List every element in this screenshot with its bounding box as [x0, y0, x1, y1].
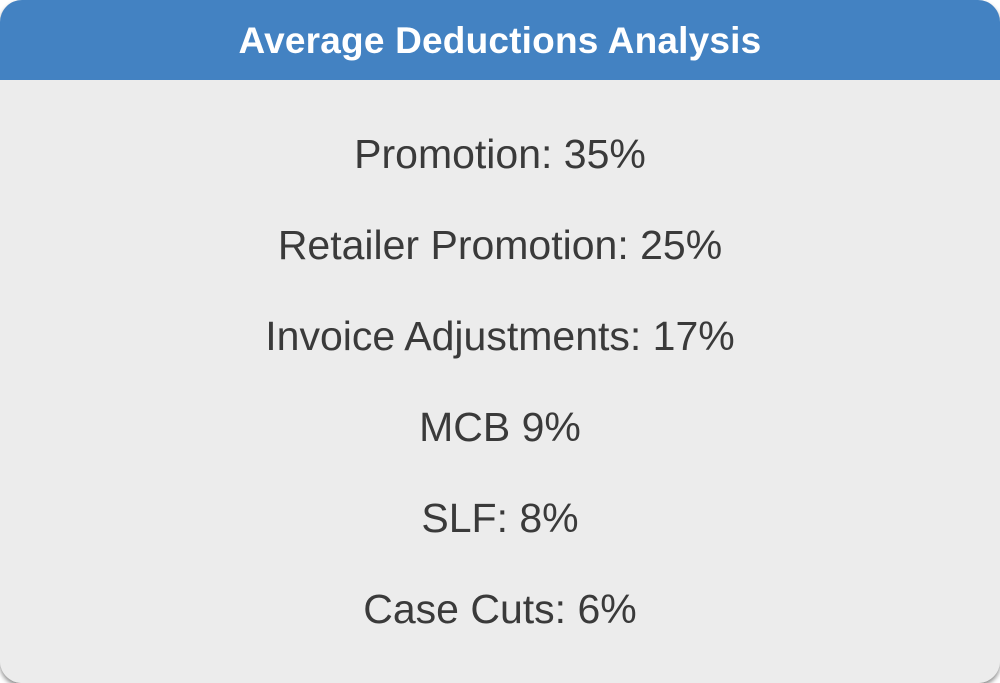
deduction-line-slf: SLF: 8%: [421, 473, 578, 564]
card-header: Average Deductions Analysis: [0, 0, 1000, 80]
deduction-line-invoice-adjustments: Invoice Adjustments: 17%: [265, 291, 734, 382]
deduction-line-promotion: Promotion: 35%: [354, 109, 646, 200]
average-deductions-card: Average Deductions Analysis Promotion: 3…: [0, 0, 1000, 683]
card-body: Promotion: 35% Retailer Promotion: 25% I…: [0, 80, 1000, 683]
card-title: Average Deductions Analysis: [239, 22, 762, 59]
deduction-line-retailer-promotion: Retailer Promotion: 25%: [278, 200, 722, 291]
deduction-line-case-cuts: Case Cuts: 6%: [363, 564, 636, 655]
deduction-line-mcb: MCB 9%: [419, 382, 581, 473]
